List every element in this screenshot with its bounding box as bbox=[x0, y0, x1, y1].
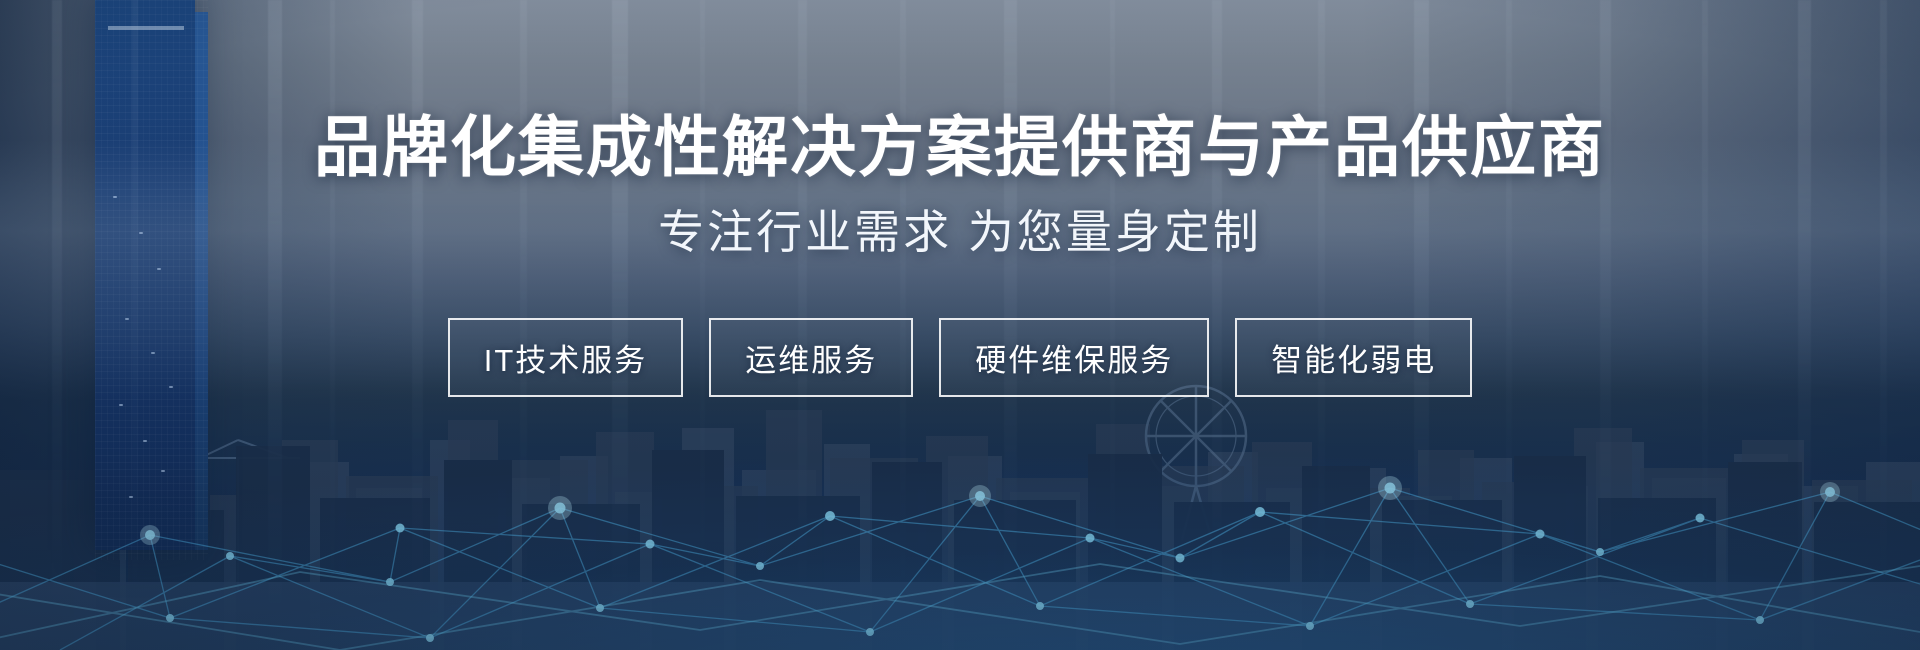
service-pill-ops[interactable]: 运维服务 bbox=[709, 318, 913, 397]
page-subtitle: 专注行业需求 为您量身定制 bbox=[658, 207, 1262, 258]
service-pill-it[interactable]: IT技术服务 bbox=[448, 318, 684, 397]
page-title: 品牌化集成性解决方案提供商与产品供应商 bbox=[314, 112, 1606, 183]
hero-banner: 品牌化集成性解决方案提供商与产品供应商 专注行业需求 为您量身定制 IT技术服务… bbox=[0, 0, 1920, 650]
banner-content: 品牌化集成性解决方案提供商与产品供应商 专注行业需求 为您量身定制 IT技术服务… bbox=[0, 0, 1920, 650]
service-pill-hardware-maintenance[interactable]: 硬件维保服务 bbox=[939, 318, 1209, 397]
service-pill-smart-low-voltage[interactable]: 智能化弱电 bbox=[1235, 318, 1472, 397]
service-pill-row: IT技术服务 运维服务 硬件维保服务 智能化弱电 bbox=[448, 318, 1473, 397]
